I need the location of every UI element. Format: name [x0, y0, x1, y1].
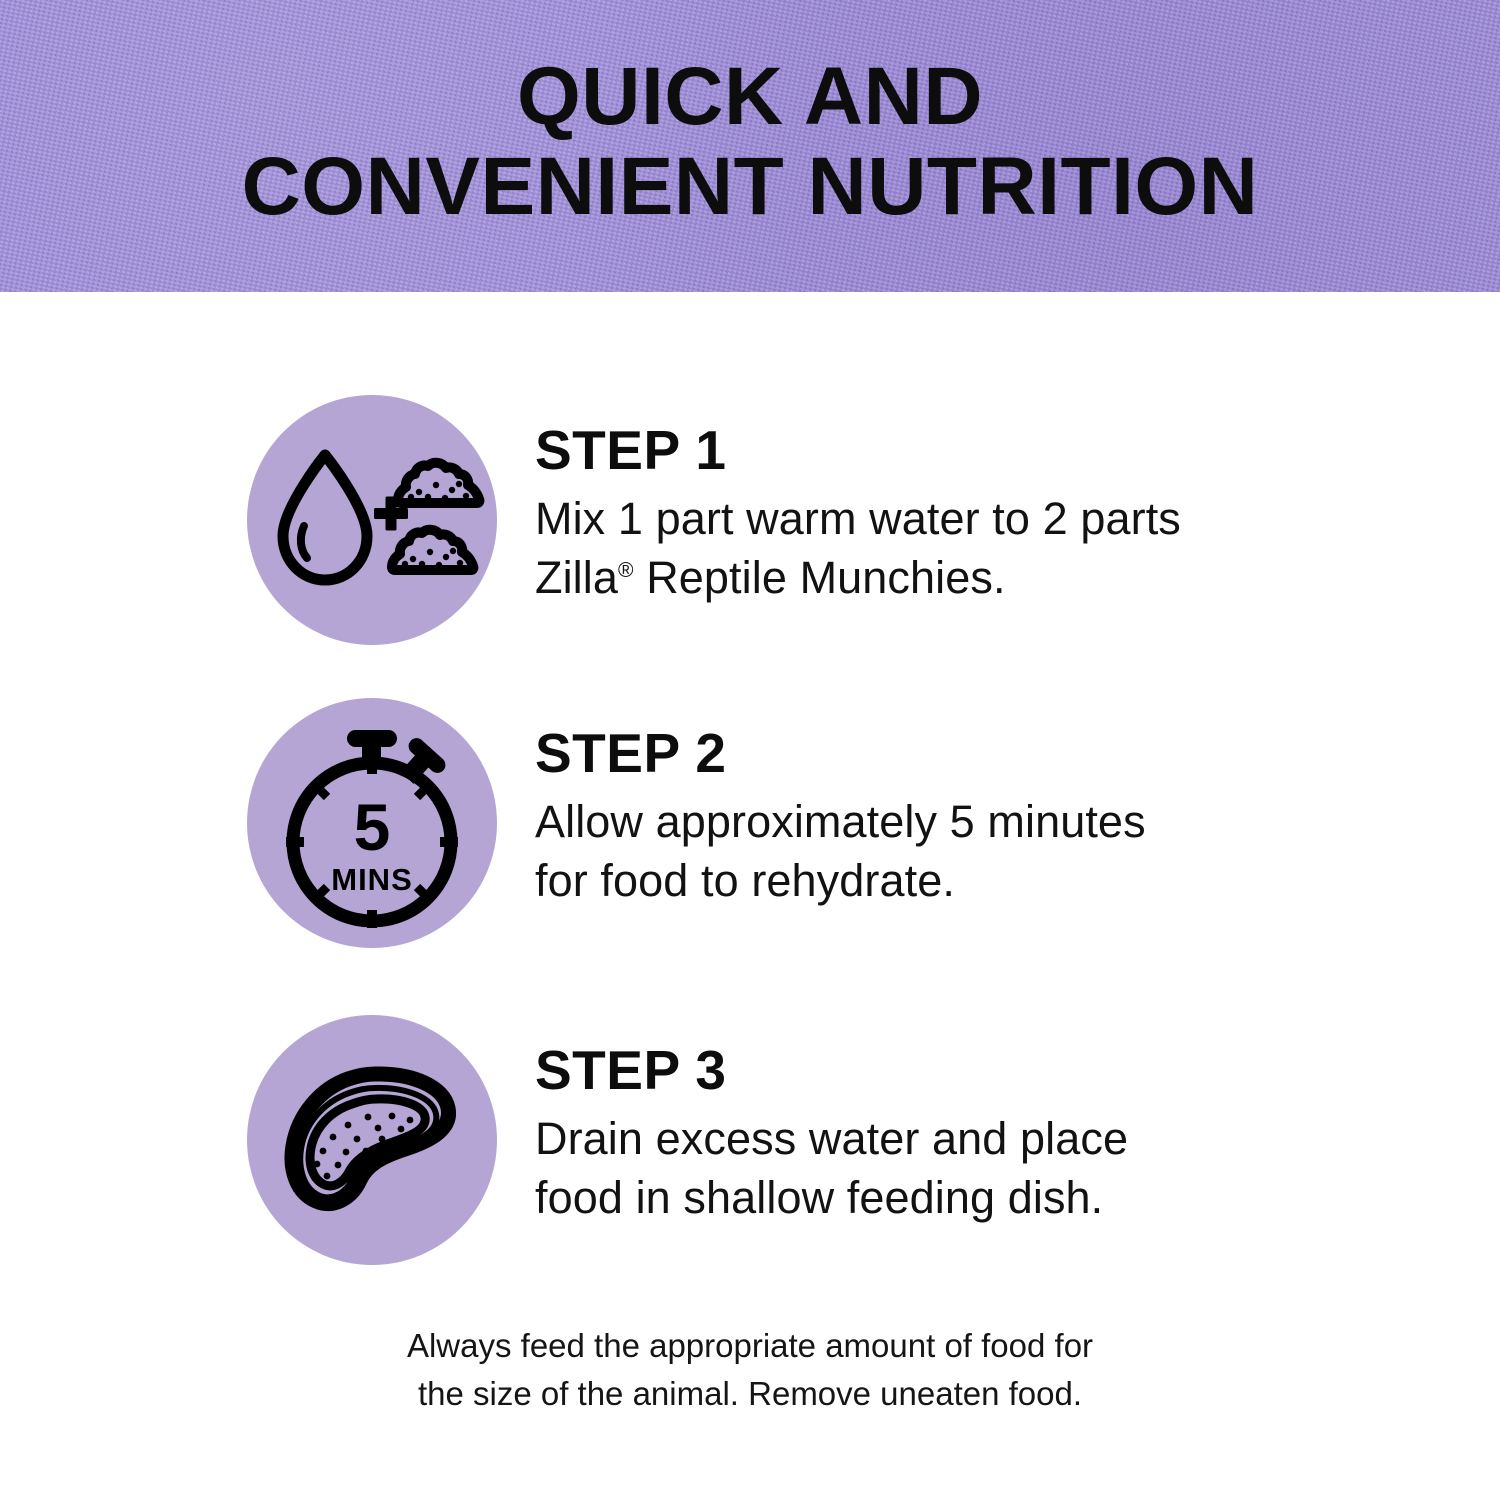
step-2-body-line-1: Allow approximately 5 minutes — [535, 796, 1146, 847]
water-drop-plus-food-mounds-icon — [247, 395, 497, 645]
step-1-body-line-2-rest: Reptile Munchies. — [634, 552, 1006, 603]
step-3-text: STEP 3 Drain excess water and placefood … — [535, 1041, 1325, 1227]
registered-trademark-mark: ® — [618, 559, 634, 582]
stopwatch-unit: MINS — [331, 862, 413, 897]
footer-note-line-1: Always feed the appropriate amount of fo… — [0, 1322, 1500, 1370]
step-2-text: STEP 2 Allow approximately 5 minutesfor … — [535, 724, 1325, 910]
step-item-2: 5 MINS STEP 2 Allow approximately 5 minu… — [247, 698, 1347, 948]
step-1-body-brand: Zilla — [535, 552, 618, 603]
step-3-body-line-1: Drain excess water and place — [535, 1113, 1128, 1164]
step-2-heading: STEP 2 — [535, 724, 1325, 782]
step-1-text: STEP 1 Mix 1 part warm water to 2 partsZ… — [535, 421, 1325, 607]
page-title-line-1: QUICK AND — [0, 52, 1500, 142]
step-1-icon-badge — [247, 395, 497, 645]
step-item-3: STEP 3 Drain excess water and placefood … — [247, 1015, 1347, 1265]
step-1-body-line-1: Mix 1 part warm water to 2 parts — [535, 493, 1181, 544]
feeding-dish-with-food-icon — [247, 1015, 497, 1265]
stopwatch-number: 5 — [354, 790, 391, 864]
step-2-body: Allow approximately 5 minutesfor food to… — [535, 792, 1325, 910]
step-2-body-line-2: for food to rehydrate. — [535, 855, 955, 906]
page-title-line-2: CONVENIENT NUTRITION — [0, 142, 1500, 232]
step-1-body: Mix 1 part warm water to 2 partsZilla® R… — [535, 489, 1325, 607]
page-title: QUICK AND CONVENIENT NUTRITION — [0, 52, 1500, 232]
step-1-heading: STEP 1 — [535, 421, 1325, 479]
step-2-icon-badge: 5 MINS — [247, 698, 497, 948]
footer-note: Always feed the appropriate amount of fo… — [0, 1322, 1500, 1418]
step-3-body-line-2: food in shallow feeding dish. — [535, 1172, 1103, 1223]
step-3-heading: STEP 3 — [535, 1041, 1325, 1099]
header-banner: QUICK AND CONVENIENT NUTRITION — [0, 0, 1500, 292]
step-item-1: STEP 1 Mix 1 part warm water to 2 partsZ… — [247, 395, 1347, 645]
footer-note-line-2: the size of the animal. Remove uneaten f… — [0, 1370, 1500, 1418]
step-3-body: Drain excess water and placefood in shal… — [535, 1109, 1325, 1227]
step-3-icon-badge — [247, 1015, 497, 1265]
stopwatch-5-mins-icon: 5 MINS — [247, 698, 497, 948]
